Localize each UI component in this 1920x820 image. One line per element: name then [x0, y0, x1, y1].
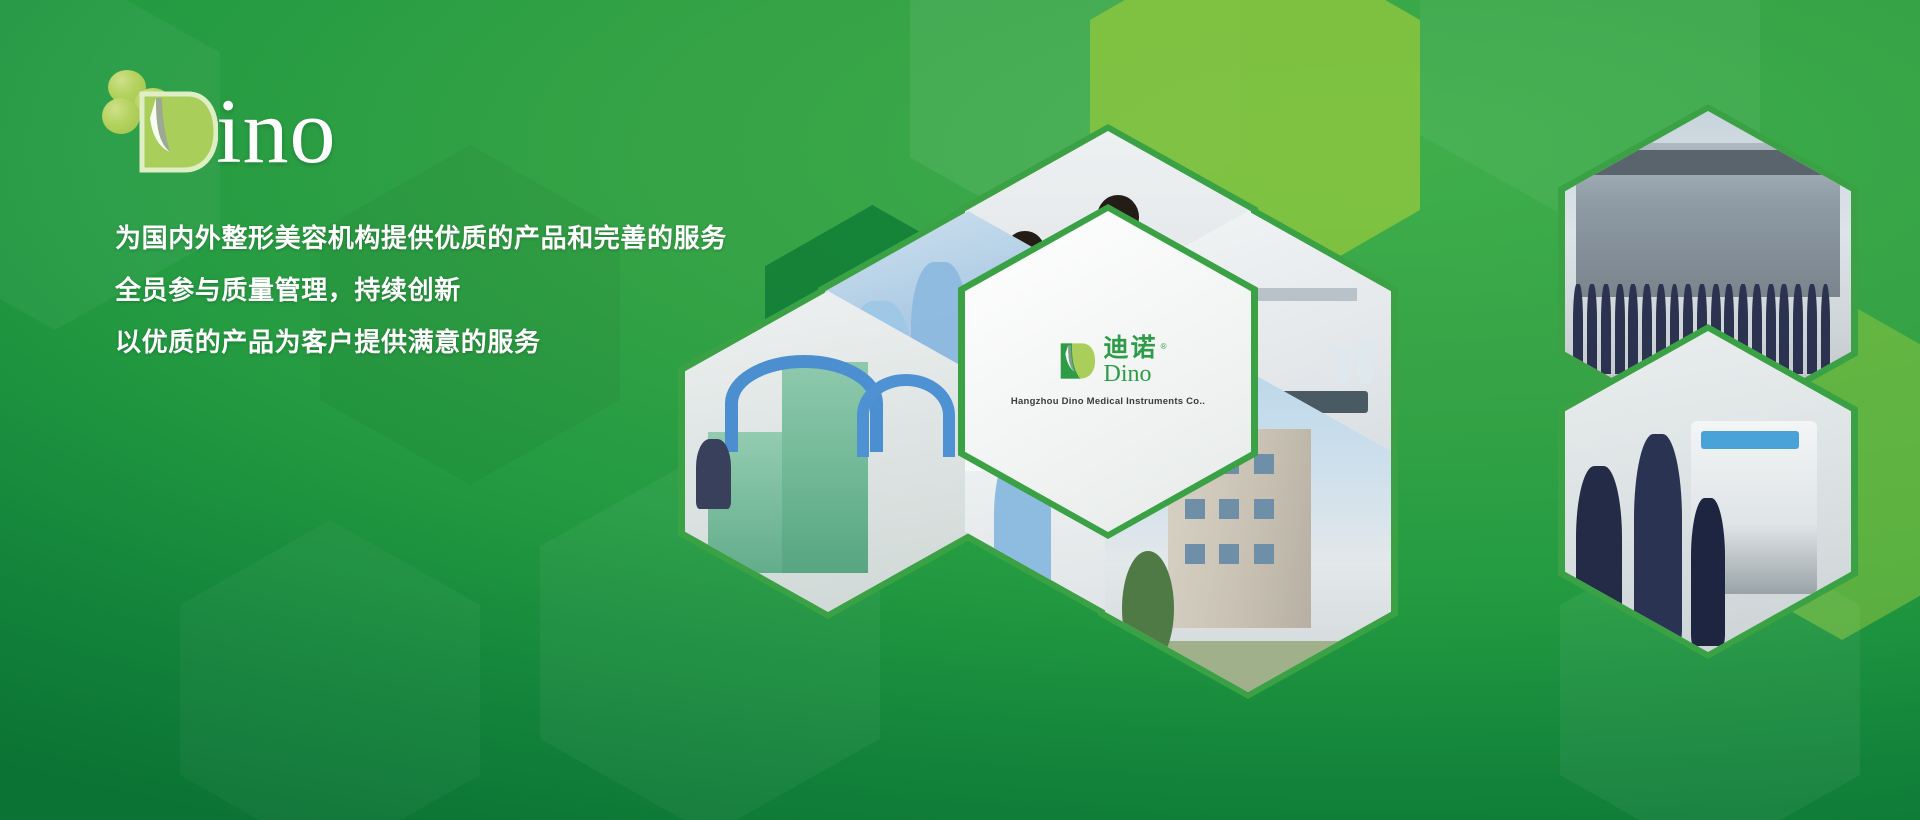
- dino-leaf-logo-icon: [136, 90, 218, 174]
- slogan-line: 以优质的产品为客户提供满意的服务: [115, 316, 727, 368]
- badge-chinese-name: 迪诺®: [1103, 336, 1157, 361]
- brand-wordmark: ino: [216, 88, 337, 174]
- registered-mark-icon: ®: [1161, 334, 1169, 359]
- badge-english-name: Dino: [1103, 362, 1151, 386]
- badge-logo-lockup: 迪诺® Dino: [1058, 336, 1157, 386]
- slogan-line: 全员参与质量管理，持续创新: [115, 264, 727, 316]
- background-hexagon-icon: [180, 520, 480, 820]
- slogan-line: 为国内外整形美容机构提供优质的产品和完善的服务: [115, 212, 727, 264]
- dino-leaf-logo-icon: [1058, 341, 1096, 381]
- brand-lockup: ino: [92, 68, 512, 178]
- hero-banner: ino 为国内外整形美容机构提供优质的产品和完善的服务 全员参与质量管理，持续创…: [0, 0, 1920, 820]
- photo-collage: 迪诺® Dino Hangzhou Dino Medical Instrumen…: [650, 100, 1920, 660]
- badge-company-name: Hangzhou Dino Medical Instruments Co..: [1011, 396, 1205, 407]
- slogan-list: 为国内外整形美容机构提供优质的产品和完善的服务 全员参与质量管理，持续创新 以优…: [115, 212, 727, 368]
